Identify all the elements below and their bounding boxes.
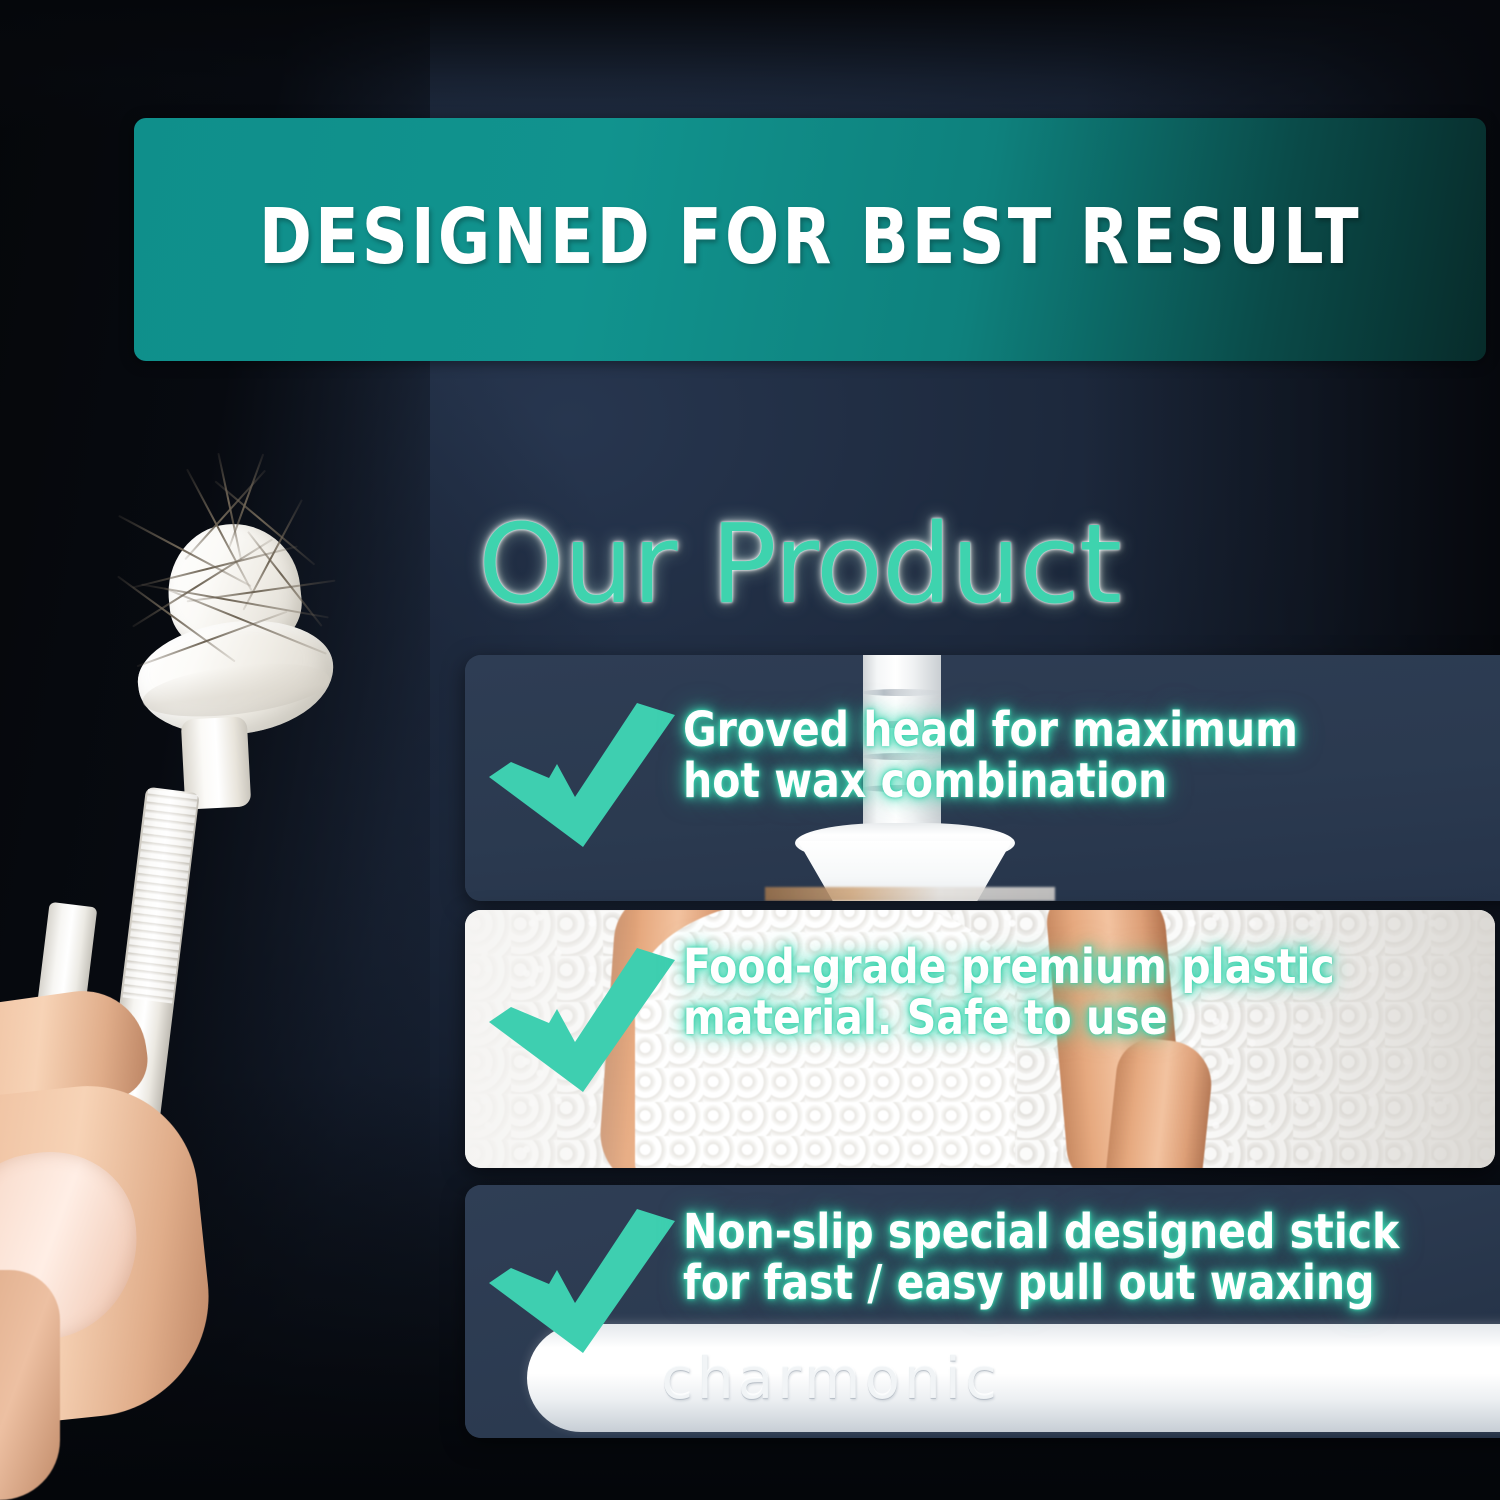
hand-photo xyxy=(0,970,260,1500)
groove-line xyxy=(861,721,943,728)
groove-line xyxy=(861,753,943,760)
page-title: Our Product xyxy=(478,500,1121,628)
media-fade-right xyxy=(1185,910,1495,1168)
banner-title: DESIGNED FOR BEST RESULT xyxy=(259,193,1362,286)
check-icon xyxy=(487,1207,677,1357)
check-icon xyxy=(487,946,677,1096)
feature-card-food-grade[interactable]: Food-grade premium plastic material. Saf… xyxy=(465,910,1495,1168)
feature-card-grooved-head[interactable]: Groved head for maximum hot wax combinat… xyxy=(465,655,1500,901)
knuckle xyxy=(0,1270,60,1500)
applicator-stick-tail xyxy=(1485,1324,1500,1432)
applicator-product-photo xyxy=(0,470,460,1500)
groove-line xyxy=(861,689,943,696)
feature-card-non-slip-stick[interactable]: charmonic Non-slip special designed stic… xyxy=(465,1185,1500,1438)
pellets-strip xyxy=(765,887,1055,901)
product-infographic-poster: DESIGNED FOR BEST RESULT Our Product xyxy=(0,0,1500,1500)
pellet-heap xyxy=(635,910,1015,1168)
header-banner: DESIGNED FOR BEST RESULT xyxy=(134,118,1486,361)
applicator-grooved-shaft xyxy=(863,655,941,843)
groove-line xyxy=(861,785,943,792)
check-icon xyxy=(487,701,677,851)
